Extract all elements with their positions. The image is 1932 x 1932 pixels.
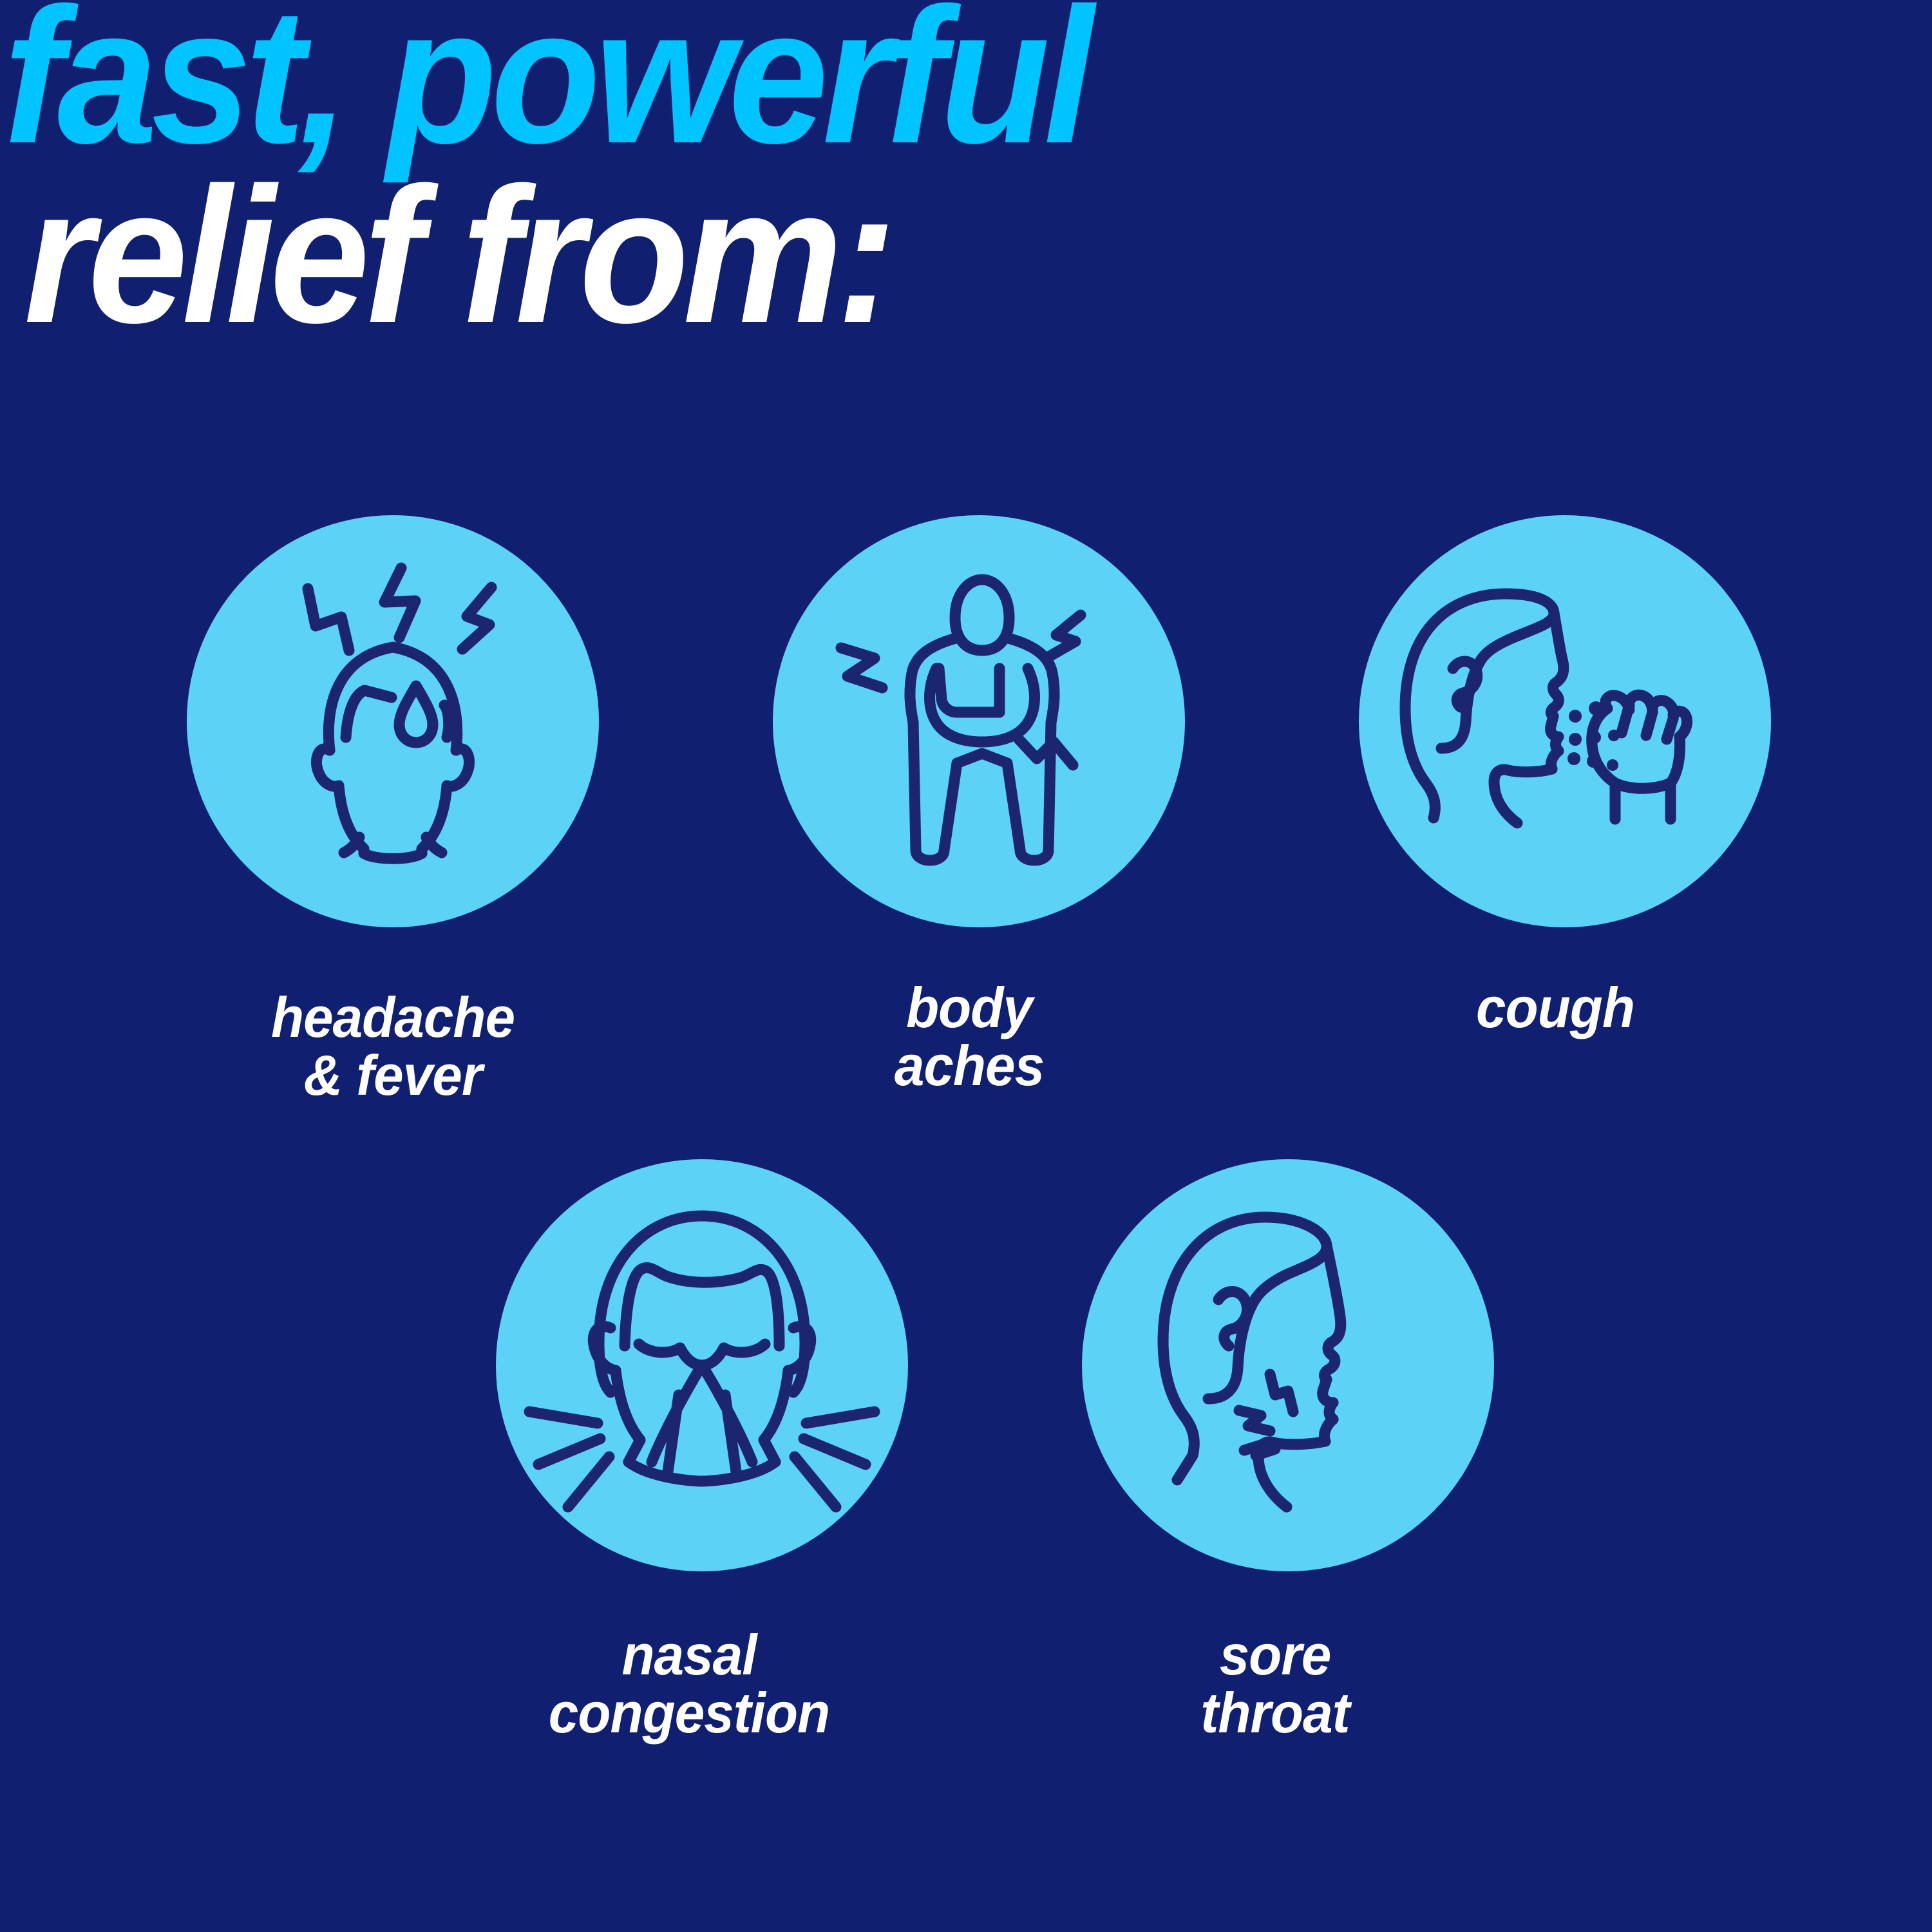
headline-line-1: fast, powerful (0, 0, 1437, 166)
symptom-label: cough (1359, 979, 1751, 1037)
profile-head-coughing-into-fist-icon (1359, 515, 1771, 927)
page-title: fast, powerful relief from: (0, 0, 1437, 345)
symptom-label: sore throat (1079, 1626, 1471, 1742)
icon-circle (496, 1159, 908, 1571)
person-with-crossed-arms-and-pain-zigzags-icon (773, 515, 1185, 927)
icon-circle (1082, 1159, 1494, 1571)
head-with-lightning-bolts-and-sweat-drop-icon (187, 515, 599, 927)
icon-circle (773, 515, 1185, 927)
icon-circle (187, 515, 599, 927)
icon-circle (1359, 515, 1771, 927)
profile-head-with-throat-pain-zigzags-icon (1082, 1159, 1494, 1571)
promo-graphic: fast, powerful relief from: (0, 0, 1932, 1932)
face-blowing-nose-into-tissue-icon (496, 1159, 908, 1571)
symptom-label: nasal congestion (493, 1626, 885, 1742)
symptom-label: body aches (773, 979, 1165, 1095)
headline-line-2: relief from: (0, 166, 1437, 345)
symptom-label: headache & fever (197, 989, 589, 1104)
